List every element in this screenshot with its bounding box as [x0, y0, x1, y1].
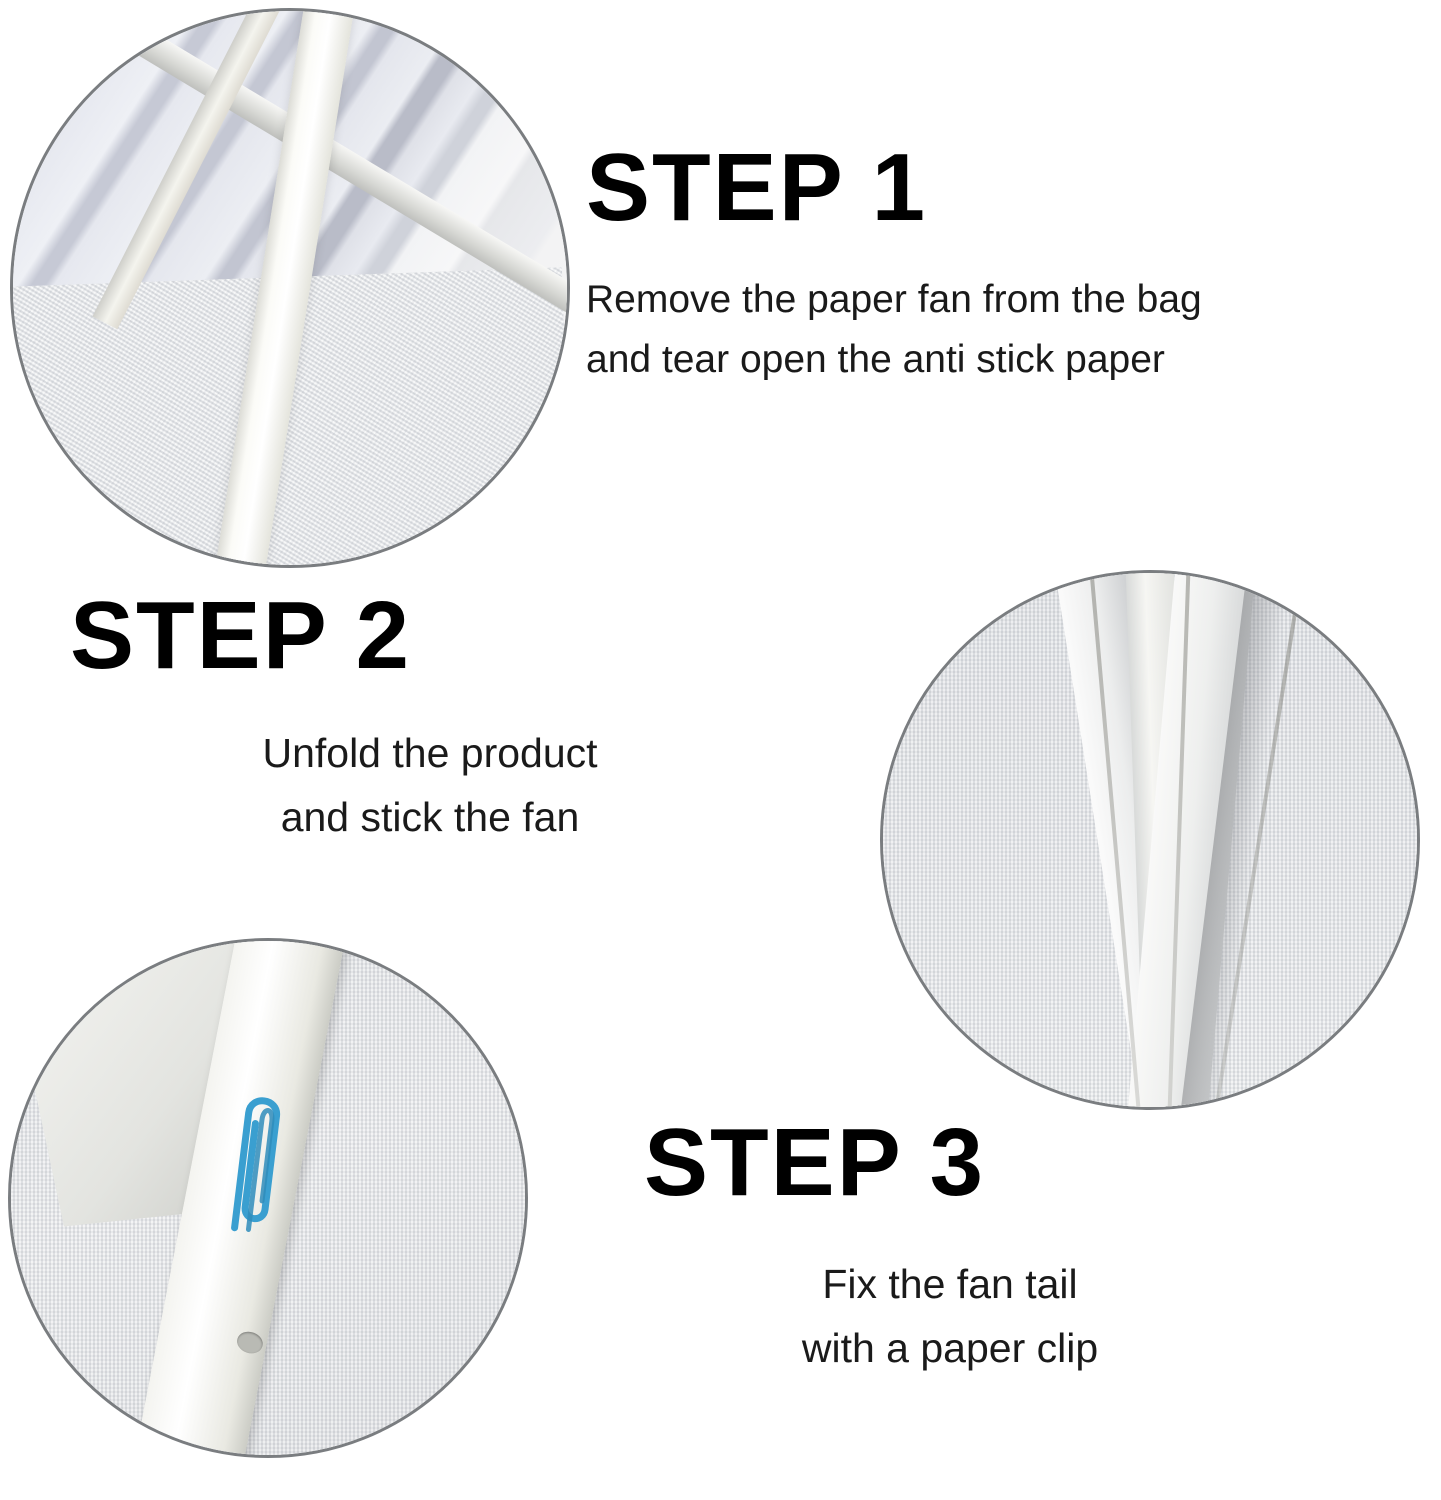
step-1-title: STEP 1 [586, 140, 1202, 236]
step-2-line-2: and stick the fan [70, 786, 790, 850]
step-1-photo [13, 11, 567, 565]
step-2-line-1: Unfold the product [70, 722, 790, 786]
step-2-photo-bubble [880, 570, 1420, 1110]
step-1-photo-bubble [10, 8, 570, 568]
step-3-title: STEP 3 [644, 1115, 1270, 1211]
step-1-line-1: Remove the paper fan from the bag [586, 270, 1202, 330]
step-3-photo [11, 941, 525, 1455]
step-3-line-1: Fix the fan tail [630, 1253, 1270, 1317]
step-3-line-2: with a paper clip [630, 1317, 1270, 1381]
step-3-text-block: STEP 3 Fix the fan tail with a paper cli… [630, 1115, 1270, 1380]
step-2-title: STEP 2 [70, 588, 790, 684]
step-1-line-2: and tear open the anti stick paper [586, 330, 1202, 390]
step-2-text-block: STEP 2 Unfold the product and stick the … [70, 588, 790, 849]
step-3-photo-bubble [8, 938, 528, 1458]
step-2-photo [883, 573, 1417, 1107]
instruction-sheet: STEP 1 Remove the paper fan from the bag… [0, 0, 1441, 1500]
step-1-text-block: STEP 1 Remove the paper fan from the bag… [586, 140, 1202, 391]
